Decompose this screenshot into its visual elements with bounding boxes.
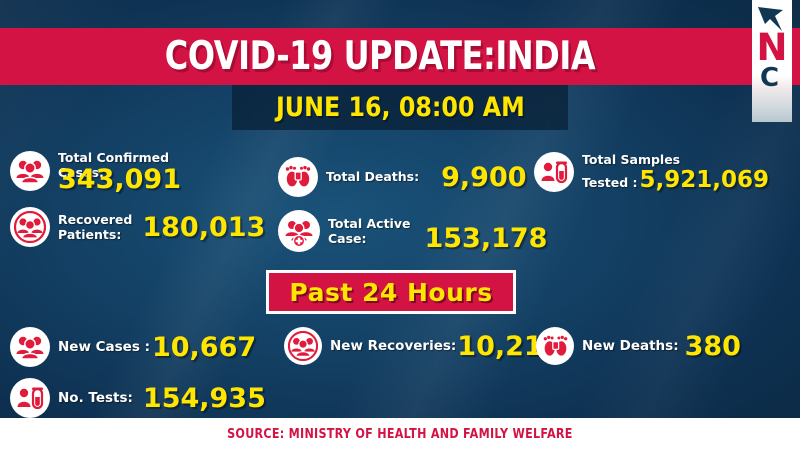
footer-bar: SOURCE: MINISTRY OF HEALTH AND FAMILY WE…	[0, 418, 800, 450]
stat-total-samples-tested: Total Samples Tested : 5,921,069	[534, 152, 769, 192]
stat-new-recoveries: New Recoveries: 10,215	[284, 327, 562, 365]
people-group-icon	[10, 151, 50, 191]
people-medical-cross-icon	[278, 210, 320, 252]
stat-new-cases: New Cases : 10,667	[10, 327, 256, 367]
stat-label-total-samples-line2: Tested :	[582, 175, 638, 190]
person-test-tube-icon	[534, 152, 574, 192]
logo-letter-c: C	[760, 62, 800, 94]
date-time-box: JUNE 16, 08:00 AM	[232, 85, 568, 130]
stat-value-total-confirmed-cases: 343,091	[58, 166, 181, 193]
date-time-text: JUNE 16, 08:00 AM	[276, 92, 525, 123]
source-attribution: SOURCE: MINISTRY OF HEALTH AND FAMILY WE…	[227, 427, 573, 442]
people-recovered-ring-icon	[284, 327, 322, 365]
stat-value-total-active-case: 153,178	[424, 225, 547, 252]
covid-update-infographic: COVID-19 UPDATE:INDIA JUNE 16, 08:00 AM …	[0, 0, 800, 450]
stat-value-recovered-patients: 180,013	[142, 214, 265, 241]
stat-value-new-deaths: 380	[685, 333, 741, 360]
stat-label-total-samples-line1: Total Samples	[582, 152, 769, 167]
person-test-tube-icon	[10, 378, 50, 418]
stat-total-active-case: Total Active Case: 153,178	[278, 210, 547, 252]
stat-label-recovered-patients: Recovered Patients:	[58, 212, 132, 243]
stat-value-total-samples-tested: 5,921,069	[640, 169, 770, 192]
stat-total-confirmed-cases: Total Confirmed Cases: 343,091	[10, 150, 181, 193]
stat-new-deaths: New Deaths: 380	[536, 327, 741, 365]
feet-toe-tag-icon	[278, 157, 318, 197]
stat-label-new-cases: New Cases :	[58, 339, 150, 355]
stat-value-new-cases: 10,667	[152, 334, 256, 361]
feet-toe-tag-icon	[536, 327, 574, 365]
stat-total-deaths: Total Deaths: 9,900	[278, 157, 527, 197]
stat-recovered-patients: Recovered Patients: 180,013	[10, 207, 265, 247]
people-group-icon	[10, 327, 50, 367]
stat-label-new-recoveries: New Recoveries:	[330, 338, 456, 354]
page-title: COVID-19 UPDATE:INDIA	[68, 28, 691, 85]
stat-value-total-deaths: 9,900	[441, 164, 526, 191]
stat-label-new-deaths: New Deaths:	[582, 338, 679, 354]
stat-no-tests: No. Tests: 154,935	[10, 378, 266, 418]
past-24-hours-label: Past 24 Hours	[289, 278, 492, 307]
stat-label-total-deaths: Total Deaths:	[326, 169, 419, 184]
stat-label-total-active-case: Total Active Case:	[328, 216, 410, 247]
stat-value-no-tests: 154,935	[143, 385, 266, 412]
past-24-hours-banner: Past 24 Hours	[266, 270, 516, 314]
people-recovered-ring-icon	[10, 207, 50, 247]
stat-label-no-tests: No. Tests:	[58, 390, 133, 406]
